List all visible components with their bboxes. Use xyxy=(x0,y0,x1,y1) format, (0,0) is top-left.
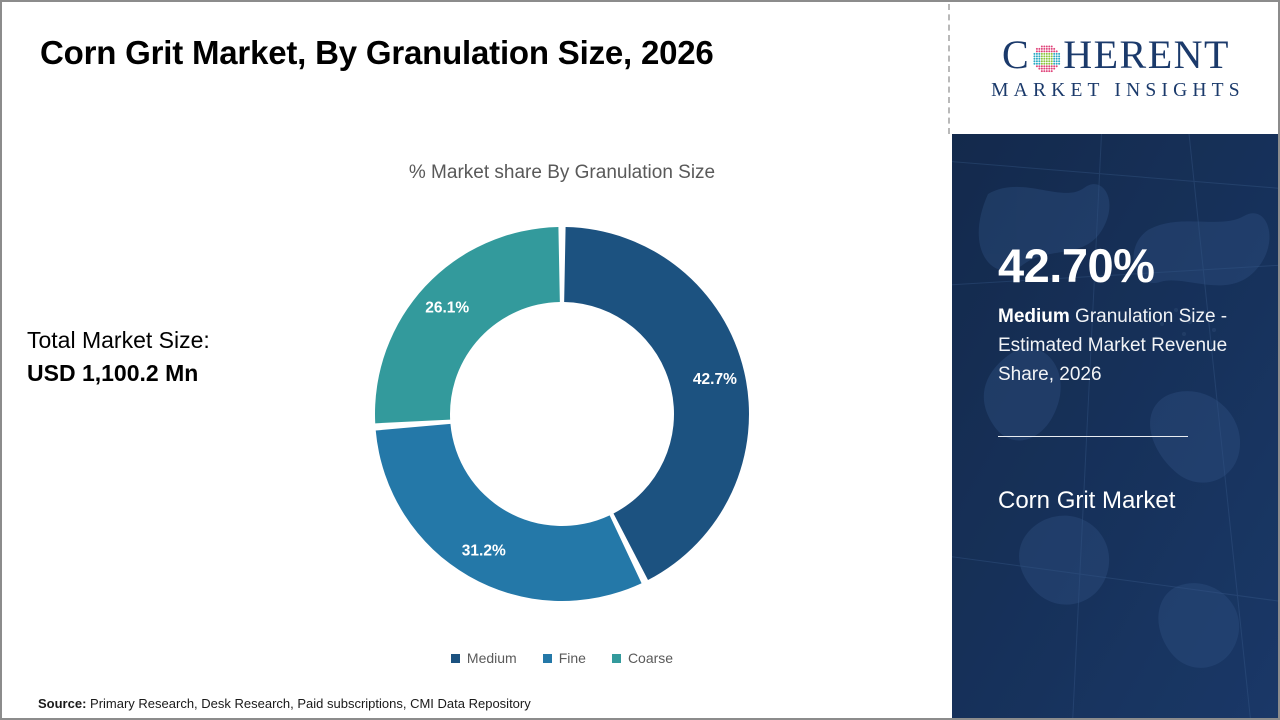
panel-divider-rule xyxy=(998,436,1188,437)
page-title: Corn Grit Market, By Granulation Size, 2… xyxy=(40,34,714,72)
stat-percent-value: 42.70% xyxy=(998,242,1262,289)
globe-icon-svg xyxy=(1031,43,1062,74)
total-market-size-block: Total Market Size: USD 1,100.2 Mn xyxy=(27,324,210,390)
chart-legend: MediumFineCoarse xyxy=(182,650,942,666)
stat-panel: 42.70% Medium Granulation Size - Estimat… xyxy=(952,134,1280,718)
legend-swatch-icon xyxy=(451,654,460,663)
legend-swatch-icon xyxy=(612,654,621,663)
legend-label: Fine xyxy=(559,650,586,666)
donut-chart-svg: 42.7%31.2%26.1% xyxy=(372,224,752,604)
logo-tagline: MARKET INSIGHTS xyxy=(987,81,1245,101)
donut-label-fine: 31.2% xyxy=(462,543,506,560)
donut-label-coarse: 26.1% xyxy=(425,299,469,316)
logo-wordmark: C HERENT xyxy=(1002,35,1230,75)
stat-description: Medium Granulation Size - Estimated Mark… xyxy=(998,303,1262,390)
donut-chart: 42.7%31.2%26.1% xyxy=(372,224,752,604)
legend-item-fine[interactable]: Fine xyxy=(543,650,586,666)
donut-slices xyxy=(375,227,749,601)
total-market-size-value: USD 1,100.2 Mn xyxy=(27,357,210,390)
chart-subtitle: % Market share By Granulation Size xyxy=(182,162,942,184)
donut-slice-coarse xyxy=(375,227,560,423)
right-side-panel: C HERENT MARKET INSIGHTS xyxy=(952,2,1280,718)
donut-slice-fine xyxy=(376,424,642,601)
total-market-size-label: Total Market Size: xyxy=(27,324,210,357)
source-label: Source: xyxy=(38,696,86,711)
legend-label: Coarse xyxy=(628,650,673,666)
legend-swatch-icon xyxy=(543,654,552,663)
main-content-area: Corn Grit Market, By Granulation Size, 2… xyxy=(2,2,950,718)
logo-letter-c: C xyxy=(1002,35,1030,75)
globe-icon xyxy=(1031,41,1062,72)
stat-panel-content: 42.70% Medium Granulation Size - Estimat… xyxy=(998,134,1262,515)
source-text: Primary Research, Desk Research, Paid su… xyxy=(90,696,531,711)
vertical-dashed-divider xyxy=(948,4,950,134)
source-line: Source: Primary Research, Desk Research,… xyxy=(38,696,531,711)
legend-item-medium[interactable]: Medium xyxy=(451,650,517,666)
panel-market-name: Corn Grit Market xyxy=(998,487,1262,516)
legend-item-coarse[interactable]: Coarse xyxy=(612,650,673,666)
logo-word-rest: HERENT xyxy=(1063,35,1230,75)
infographic-page: Corn Grit Market, By Granulation Size, 2… xyxy=(0,0,1280,720)
brand-logo: C HERENT MARKET INSIGHTS xyxy=(952,2,1280,134)
legend-label: Medium xyxy=(467,650,517,666)
donut-label-medium: 42.7% xyxy=(693,371,737,388)
stat-description-strong: Medium xyxy=(998,306,1070,327)
